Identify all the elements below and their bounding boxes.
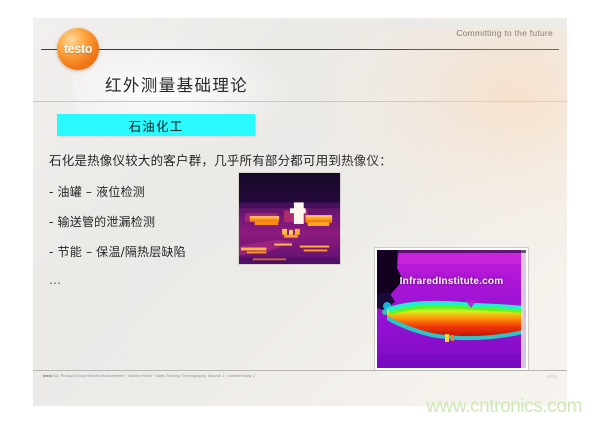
slide-header: Committing to the future testo [33,18,567,68]
title-underline [33,101,567,102]
header-tagline: Committing to the future [456,28,553,38]
thermal-tank-graphic [377,250,526,368]
list-ellipsis: … [49,273,289,287]
footer-rule [33,370,567,371]
footer-brand-label: testo [43,374,52,378]
body-lead-text: 石化是热像仪较大的客户群，几乎所有部分都可用到热像仪： [49,150,289,169]
screenshot-root: Committing to the future testo 红外测量基础理论 … [0,0,600,424]
testo-logo-label: testo [57,28,99,70]
footer-credits: testo AG, Product Group Infrared Measure… [43,374,255,378]
section-subtitle-box: 石油化工 [57,114,255,136]
testo-logo-icon: testo [57,28,99,70]
page-title: 红外测量基础理论 [105,72,248,96]
infrared-institute-watermark: InfraredInstitute.com [377,276,526,287]
page-number: 47/21 [547,374,557,379]
thermal-image-refinery [238,172,341,265]
section-subtitle-label: 石油化工 [129,116,184,135]
footer-detail-label: AG, Product Group Infrared Measurement ·… [53,374,255,378]
slide-title-band: 红外测量基础理论 [33,68,567,104]
thermal-refinery-graphic [239,173,340,264]
site-watermark: www.cntronics.com [426,396,582,418]
presentation-slide: Committing to the future testo 红外测量基础理论 … [33,18,567,406]
header-rule [41,49,559,50]
thermal-image-tank: InfraredInstitute.com [375,248,528,370]
